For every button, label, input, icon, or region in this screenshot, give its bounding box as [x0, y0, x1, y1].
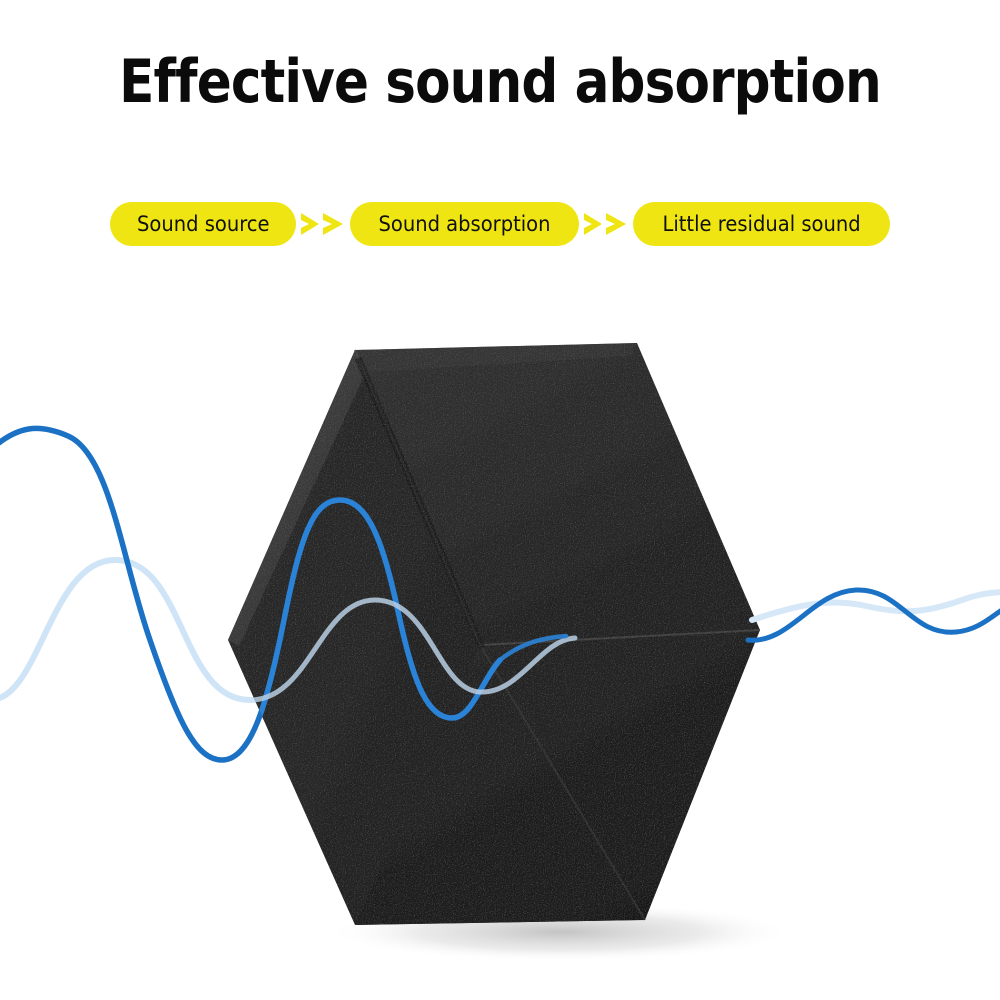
promo-graphic: Effective sound absorption Sound source … [0, 0, 1000, 1000]
hexagonal-acoustic-panel [228, 343, 760, 925]
outgoing-faint-wave [752, 592, 1000, 620]
acoustic-panel-illustration [0, 0, 1000, 1000]
